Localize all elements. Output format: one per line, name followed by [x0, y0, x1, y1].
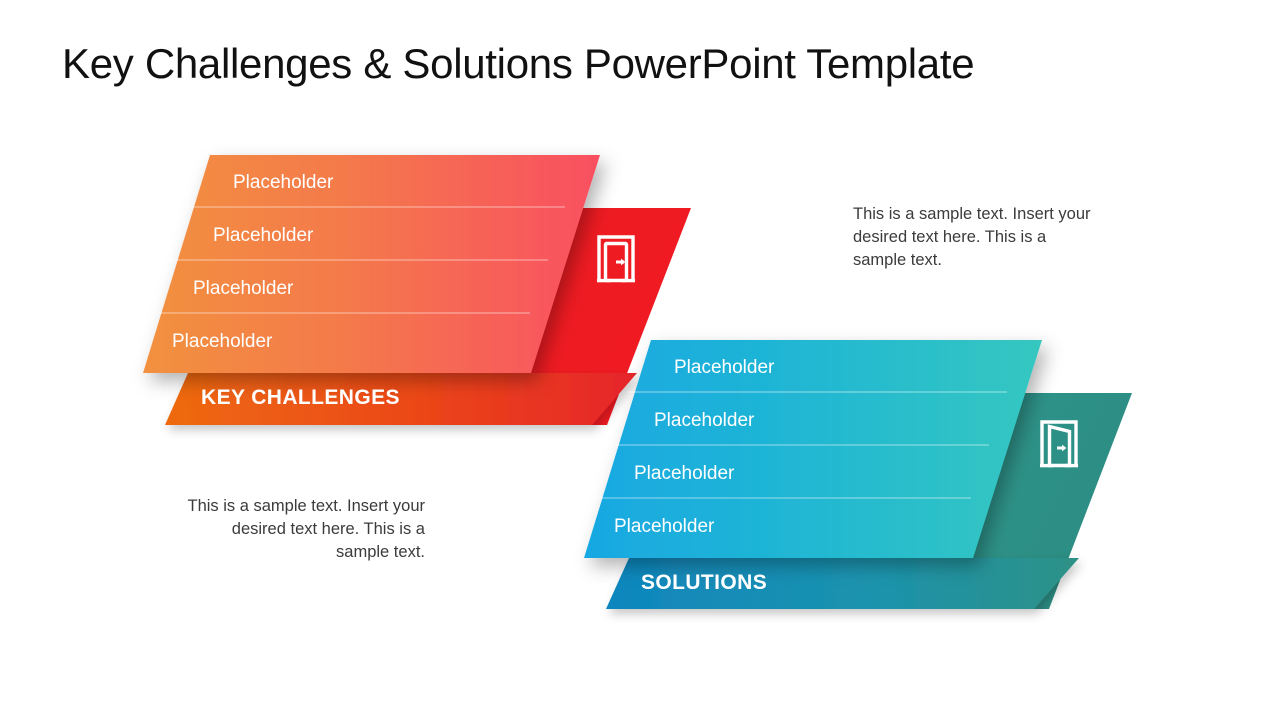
- list-item[interactable]: Placeholder: [654, 410, 754, 432]
- slide-graphics: [0, 0, 1280, 720]
- list-item[interactable]: Placeholder: [193, 278, 293, 300]
- challenges-sample-text[interactable]: This is a sample text. Insert your desir…: [175, 495, 425, 564]
- list-item[interactable]: Placeholder: [233, 172, 333, 194]
- list-item[interactable]: Placeholder: [213, 225, 313, 247]
- solutions-band-label: SOLUTIONS: [641, 571, 767, 595]
- list-item[interactable]: Placeholder: [614, 516, 714, 538]
- list-item[interactable]: Placeholder: [172, 331, 272, 353]
- slide-canvas: Key Challenges & Solutions PowerPoint Te…: [0, 0, 1280, 720]
- list-item[interactable]: Placeholder: [674, 357, 774, 379]
- challenges-band-label: KEY CHALLENGES: [201, 386, 400, 410]
- solutions-sample-text[interactable]: This is a sample text. Insert your desir…: [853, 203, 1103, 272]
- list-item[interactable]: Placeholder: [634, 463, 734, 485]
